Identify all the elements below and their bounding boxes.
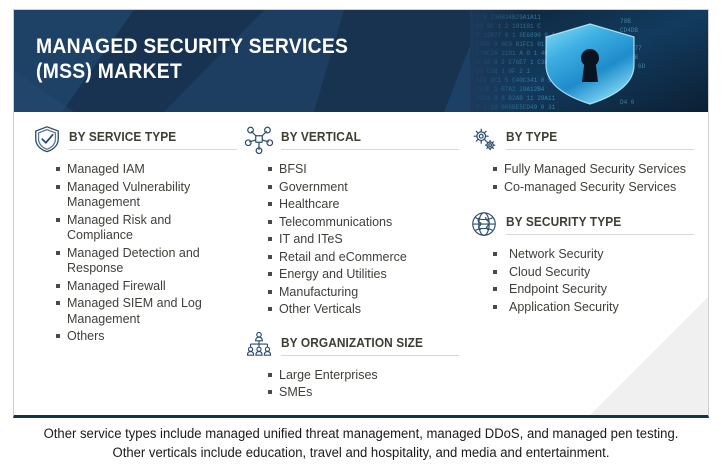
list-item: IT and ITeS — [268, 232, 459, 248]
list-item: SMEs — [268, 385, 459, 401]
header-band: MANAGED SECURITY SERVICES (MSS) MARKET — [14, 10, 709, 112]
list-item: Cloud Security — [493, 265, 694, 281]
list-item: Manufacturing — [268, 285, 459, 301]
section-rule — [281, 355, 459, 356]
list-item: Healthcare — [268, 197, 459, 213]
column-vertical: BY VERTICAL BFSI Government Healthcare T… — [244, 126, 459, 413]
section-list: Fully Managed Security Services Co-manag… — [469, 162, 694, 195]
list-item: Application Security — [493, 300, 694, 316]
column-service-type: BY SERVICE TYPE Managed IAM Managed Vuln… — [32, 126, 237, 357]
infographic-card: MANAGED SECURITY SERVICES (MSS) MARKET — [13, 9, 709, 418]
network-hub-icon — [244, 124, 274, 154]
section-by-organization-size: BY ORGANIZATION SIZE Large Enterprises S… — [244, 332, 459, 401]
org-hierarchy-icon — [244, 330, 274, 360]
section-header: BY VERTICAL — [244, 126, 459, 156]
gears-icon — [469, 124, 499, 154]
shield-check-icon — [32, 124, 62, 154]
section-rule — [506, 149, 694, 150]
section-header: BY SERVICE TYPE — [32, 126, 237, 156]
list-item: Managed SIEM and Log Management — [56, 296, 237, 327]
list-item: BFSI — [268, 162, 459, 178]
globe-icon — [469, 209, 499, 239]
list-item: Government — [268, 180, 459, 196]
section-rule — [506, 234, 694, 235]
list-item: Large Enterprises — [268, 368, 459, 384]
list-item: Retail and eCommerce — [268, 250, 459, 266]
footnote: Other service types include managed unif… — [11, 424, 711, 462]
section-by-type: BY TYPE Fully Managed Security Services … — [469, 126, 694, 195]
list-item: Telecommunications — [268, 215, 459, 231]
list-item: Co-managed Security Services — [493, 180, 694, 196]
section-rule — [69, 149, 237, 150]
shield-keyhole-icon: 1 0 23AB34B29A1A11 B1 0C 1 2 101101 C 8 … — [470, 10, 709, 112]
footnote-line-2: Other verticals include education, trave… — [11, 443, 711, 462]
section-title: BY ORGANIZATION SIZE — [281, 336, 450, 350]
footnote-line-1: Other service types include managed unif… — [11, 424, 711, 443]
section-header: BY TYPE — [469, 126, 694, 156]
section-list: Large Enterprises SMEs — [244, 368, 459, 401]
list-item: Endpoint Security — [493, 282, 694, 298]
section-by-service-type: BY SERVICE TYPE Managed IAM Managed Vuln… — [32, 126, 237, 345]
list-item: Energy and Utilities — [268, 267, 459, 283]
section-by-vertical: BY VERTICAL BFSI Government Healthcare T… — [244, 126, 459, 318]
section-title: BY SECURITY TYPE — [506, 215, 685, 229]
list-item: Managed Detection and Response — [56, 246, 237, 277]
section-title: BY VERTICAL — [281, 130, 450, 144]
section-by-security-type: BY SECURITY TYPE Network Security Cloud … — [469, 211, 694, 315]
section-list: BFSI Government Healthcare Telecommunica… — [244, 162, 459, 318]
list-item: Others — [56, 329, 237, 345]
list-item: Network Security — [493, 247, 694, 263]
section-list: Managed IAM Managed Vulnerability Manage… — [32, 162, 237, 345]
list-item: Other Verticals — [268, 302, 459, 318]
segments-body: BY SERVICE TYPE Managed IAM Managed Vuln… — [14, 112, 709, 416]
section-title: BY TYPE — [506, 130, 685, 144]
list-item: Managed IAM — [56, 162, 237, 178]
list-item: Managed Vulnerability Management — [56, 180, 237, 211]
section-header: BY SECURITY TYPE — [469, 211, 694, 241]
section-list: Network Security Cloud Security Endpoint… — [469, 247, 694, 315]
section-title: BY SERVICE TYPE — [69, 130, 229, 144]
header-artwork: 1 0 23AB34B29A1A11 B1 0C 1 2 101101 C 8 … — [470, 10, 709, 112]
list-item: Managed Risk and Compliance — [56, 213, 237, 244]
section-rule — [281, 149, 459, 150]
list-item: Managed Firewall — [56, 279, 237, 295]
column-type-and-security-type: BY TYPE Fully Managed Security Services … — [469, 126, 694, 327]
page-title: MANAGED SECURITY SERVICES (MSS) MARKET — [36, 34, 422, 84]
section-header: BY ORGANIZATION SIZE — [244, 332, 459, 362]
list-item: Fully Managed Security Services — [493, 162, 694, 178]
